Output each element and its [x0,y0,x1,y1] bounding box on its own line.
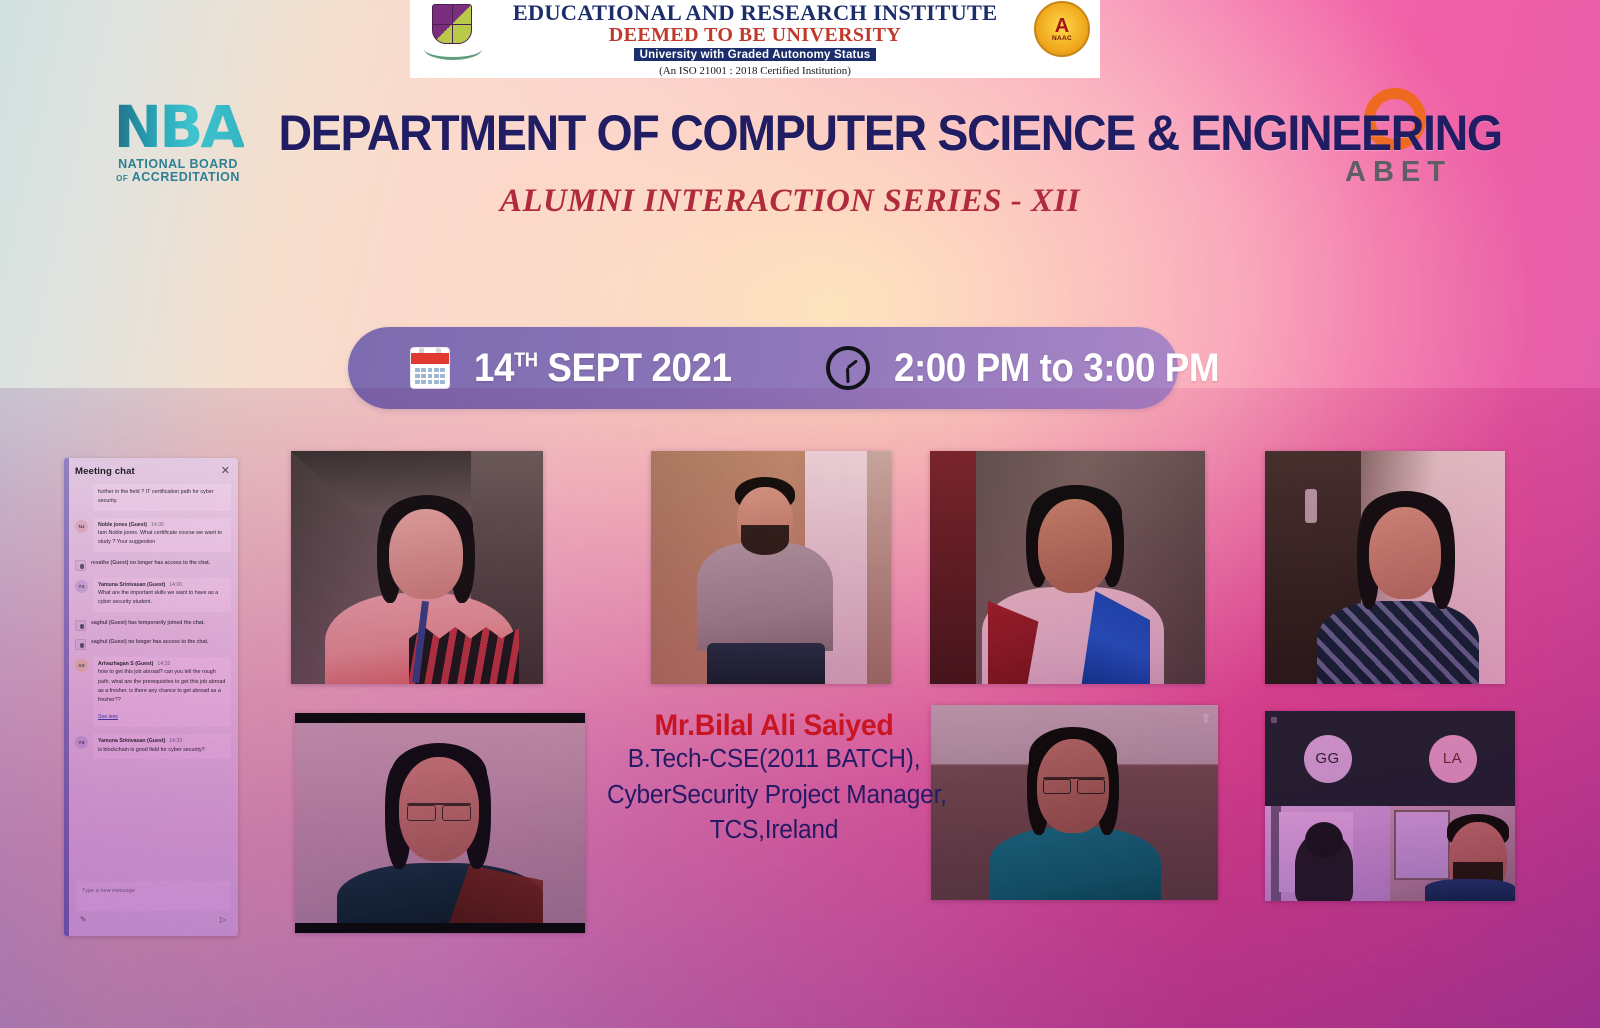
chat-message-list[interactable]: further in the field ? IT certification … [69,484,238,874]
chat-system-text: revathe (Guest) no longer has access to … [91,559,231,567]
chat-compose-area[interactable]: Type a new message ✎ ▷ [69,874,238,936]
calendar-icon [410,347,450,389]
chat-message-time: 14:33 [169,738,182,744]
chat-message-text: Iam Noble jones. What certificate course… [98,529,226,548]
chat-title: Meeting chat [75,466,135,477]
meeting-chat-panel[interactable]: Meeting chat ✕ further in the field ? IT… [64,458,238,936]
video-tile[interactable] [295,713,585,933]
clock-icon [826,346,870,390]
chat-message-text: further in the field ? IT certification … [98,488,226,507]
video-tile[interactable] [1265,451,1505,684]
naac-grade-letter: A [1055,16,1069,36]
series-subtitle: ALUMNI INTERACTION SERIES - XII [240,183,1340,220]
avatar: YS [75,580,88,593]
avatar: AS [75,659,88,672]
chat-message-meta: Noble jones (Guest)14:35 [98,522,226,528]
chat-message-meta: Yamuna Srinivasan (Guest)14:00 [98,582,226,588]
send-icon[interactable]: ▷ [220,916,226,924]
iso-certification: (An ISO 21001 : 2018 Certified Instituti… [410,65,1100,77]
video-tile[interactable] [291,451,543,684]
pin-icon [1271,717,1277,723]
chat-message: NJ Noble jones (Guest)14:35 Iam Noble jo… [75,518,231,552]
video-tile-avatar[interactable]: GG [1265,711,1390,806]
person-leave-icon [75,560,86,571]
video-tile[interactable] [931,705,1218,900]
person-leave-icon [75,639,86,650]
chat-message: further in the field ? IT certification … [93,484,231,511]
chat-message-time: 14:00 [169,582,182,588]
chat-message-author: Arivazhagan S (Guest) [98,661,153,667]
event-time: 2:00 PM to 3:00 PM [894,346,1219,391]
chat-message-meta: Yamuna Srinivasan (Guest)14:33 [98,738,226,744]
chat-system-text: saghul (Guest) no longer has access to t… [91,638,231,646]
chat-system-message: saghul (Guest) no longer has access to t… [75,638,231,650]
naac-grade-badge: A NAAC [1034,1,1090,57]
institution-name: EDUCATIONAL AND RESEARCH INSTITUTE [410,0,1100,25]
video-tile[interactable] [1390,806,1515,901]
speaker-company: TCS,Ireland [607,813,941,848]
chat-system-text: saghul (Guest) has temporarily joined th… [91,619,231,627]
speaker-role: CyberSecurity Project Manager, [607,778,941,813]
autonomy-status-banner: University with Graded Autonomy Status [634,48,877,61]
video-tile[interactable] [930,451,1205,684]
university-crest-icon [424,2,484,64]
chat-message-text: What are the important skills we want to… [98,589,226,608]
see-less-link[interactable]: See less [98,714,118,720]
chat-message-text: how to get this job abroad? can you tell… [98,668,226,705]
nba-accreditation-logo: NBA NATIONAL BOARD OF ACCREDITATION [112,96,244,204]
event-datetime-banner: 14TH SEPT 2021 2:00 PM to 3:00 PM [348,327,1178,409]
person-join-icon [75,620,86,631]
event-date: 14TH SEPT 2021 [474,346,731,391]
chat-message-time: 14:35 [151,522,164,528]
chat-message-meta: Arivazhagan S (Guest)14:32 [98,661,226,667]
chat-message-author: Yamuna Srinivasan (Guest) [98,738,165,744]
avatar: YS [75,736,88,749]
avatar: GG [1304,735,1352,783]
institution-status: DEEMED TO BE UNIVERSITY [410,25,1100,45]
speaker-degree: B.Tech-CSE(2011 BATCH), [607,742,941,777]
page-title: DEPARTMENT OF COMPUTER SCIENCE & ENGINEE… [279,104,1302,162]
speaker-info: Mr.Bilal Ali Saiyed B.Tech-CSE(2011 BATC… [600,710,948,848]
nba-monogram: NBA [112,96,244,158]
chat-system-message: revathe (Guest) no longer has access to … [75,559,231,571]
event-poster: A NAAC EDUCATIONAL AND RESEARCH INSTITUT… [0,0,1600,1028]
chat-header: Meeting chat ✕ [64,458,238,484]
avatar: NJ [75,520,88,533]
close-icon[interactable]: ✕ [221,466,230,477]
chat-message-time: 14:32 [157,661,170,667]
chat-compose-toolbar: ✎ ▷ [76,911,230,924]
chat-message-text: is blockchain is good field for cyber se… [98,746,226,755]
chat-message-author: Noble jones (Guest) [98,522,147,528]
nba-line-2: OF ACCREDITATION [112,171,244,185]
naac-label: NAAC [1052,36,1072,43]
chat-message-input[interactable]: Type a new message [76,881,230,911]
chat-system-message: saghul (Guest) has temporarily joined th… [75,619,231,631]
video-tile-avatar[interactable]: LA [1390,711,1515,806]
chat-message-author: Yamuna Srinivasan (Guest) [98,582,165,588]
format-icon[interactable]: ✎ [80,916,87,924]
video-tile-group[interactable]: GG LA [1265,711,1515,901]
chat-message: AS Arivazhagan S (Guest)14:32 how to get… [75,657,231,728]
speaker-name: Mr.Bilal Ali Saiyed [609,710,940,742]
chat-message: YS Yamuna Srinivasan (Guest)14:33 is blo… [75,734,231,759]
institution-letterhead: A NAAC EDUCATIONAL AND RESEARCH INSTITUT… [410,0,1100,78]
avatar: LA [1429,735,1477,783]
video-tile-speaker[interactable] [651,451,891,684]
video-tile[interactable] [1265,806,1390,901]
chat-message: YS Yamuna Srinivasan (Guest)14:00 What a… [75,578,231,612]
